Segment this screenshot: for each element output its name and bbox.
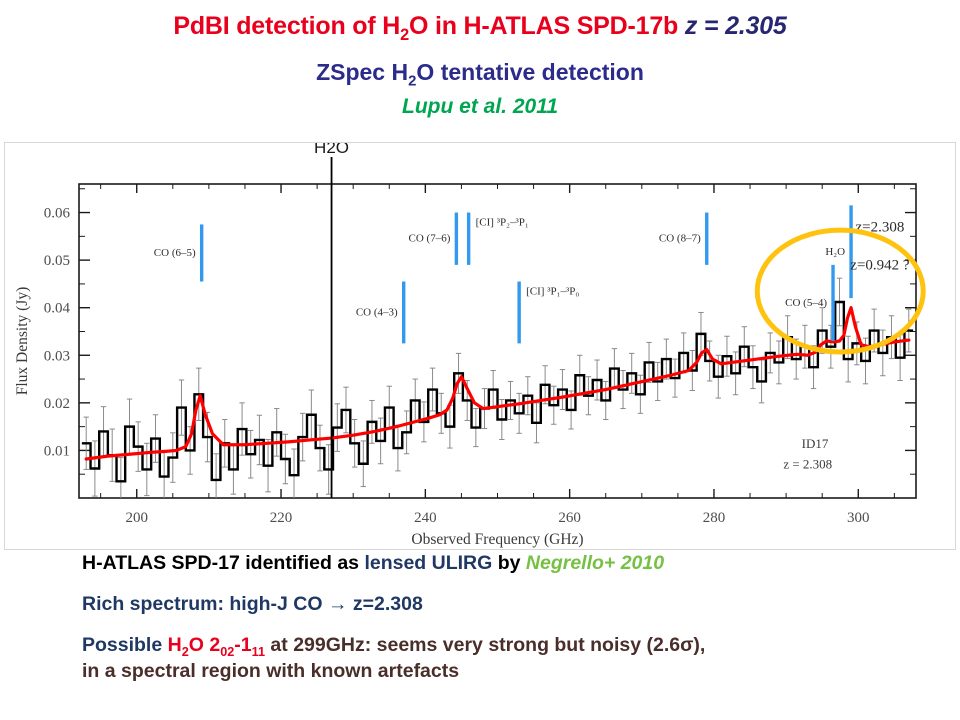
slide-title-block: PdBI detection of H2O in H-ATLAS SPD-17b… [0, 0, 960, 119]
x-tick-label: 240 [414, 510, 437, 526]
spectrum-histogram [82, 302, 913, 481]
line-marker-label: CO (6–5) [154, 247, 196, 259]
title-main-subscript: 2 [400, 26, 409, 44]
bullet3-part1: Possible [82, 634, 168, 656]
title-main-mid: O in H-ATLAS SPD-17b [409, 12, 678, 40]
y-tick-label: 0.05 [44, 253, 70, 269]
sigma-symbol: σ [680, 634, 693, 656]
x-tick-label: 200 [125, 510, 148, 526]
x-tick-label: 300 [847, 510, 870, 526]
bullet3-transition-lower: -1 [234, 634, 251, 656]
x-tick-label: 260 [558, 510, 581, 526]
data-layer [82, 278, 913, 506]
subtitle-prefix: ZSpec H [316, 59, 408, 85]
bullet1-part3: by [492, 552, 526, 574]
line-marker-label: [CI] ³P₁–³P₀ [526, 286, 579, 298]
y-tick-label: 0.04 [44, 301, 71, 317]
bullet3-part7: in a spectral region with known artefact… [82, 660, 459, 682]
y-tick-label: 0.02 [44, 396, 70, 412]
x-tick-label: 280 [703, 510, 726, 526]
subtitle-rest: O tentative detection [416, 59, 643, 85]
bullet-item-1: H-ATLAS SPD-17 identified as lensed ULIR… [82, 552, 954, 576]
bullet1-citation: Negrello+ 2010 [526, 552, 664, 574]
x-tick-label: 220 [270, 510, 293, 526]
bullet1-part2: lensed ULIRG [364, 552, 492, 574]
line-identification-markers: CO (6–5)CO (4–3)CO (7–6)[CI] ³P₂–³P₁[CI]… [154, 205, 851, 343]
y-axis-title: Flux Density (Jy) [14, 287, 31, 396]
y-tick-label: 0.06 [44, 206, 71, 222]
bullet3-part5: at 299GHz: seems very strong but noisy (… [265, 634, 680, 656]
bullet2-text: Rich spectrum: high-J CO [82, 593, 323, 615]
page-title: PdBI detection of H2O in H-ATLAS SPD-17b… [0, 12, 960, 45]
line-marker-label: CO (7–6) [409, 233, 451, 245]
subtitle: ZSpec H2O tentative detection [0, 59, 960, 90]
bullet-item-2: Rich spectrum: high-J CO → z=2.308 [82, 593, 954, 617]
bullet3-transition-upper: O 2 [189, 634, 220, 656]
line-marker-label: CO (4–3) [356, 306, 398, 318]
y-tick-label: 0.03 [44, 348, 70, 364]
bullet3-part6: ), [693, 634, 705, 656]
bullet-item-3: Possible H2O 202-111 at 299GHz: seems ve… [82, 634, 954, 684]
annotation-text: z = 2.308 [783, 457, 832, 472]
h2o-top-label: H2O [314, 143, 349, 157]
bullet2-tail: z=2.308 [353, 593, 423, 615]
bullet3-transition-lower-sub: 11 [252, 644, 265, 658]
bullet1-part1: H-ATLAS SPD-17 identified as [82, 552, 364, 574]
bullet3-molecule-sub: 2 [182, 644, 189, 658]
x-axis-title: Observed Frequency (GHz) [411, 531, 583, 548]
line-marker-label: [CI] ³P₂–³P₁ [476, 217, 529, 229]
annotation-text: z=0.942 ? [850, 258, 910, 274]
line-marker-label: CO (8–7) [659, 233, 701, 245]
spectrum-figure: 2002202402602803000.010.020.030.040.050.… [4, 142, 956, 550]
spectrum-chart: 2002202402602803000.010.020.030.040.050.… [5, 143, 955, 549]
title-main-prefix: PdBI detection of H [173, 12, 400, 40]
line-marker-label: CO (5–4) [785, 297, 827, 309]
right-arrow-icon: → [328, 593, 348, 615]
y-tick-label: 0.01 [44, 443, 70, 459]
title-redshift: z = 2.305 [685, 12, 787, 40]
bullet3-molecule: H [168, 634, 182, 656]
annotation-text: ID17 [802, 436, 829, 451]
reference-citation: Lupu et al. 2011 [0, 95, 960, 119]
bullet-list: H-ATLAS SPD-17 identified as lensed ULIR… [82, 552, 954, 684]
bullet3-transition-upper-sub: 02 [220, 644, 234, 658]
line-marker-label: H₂O [825, 246, 845, 258]
